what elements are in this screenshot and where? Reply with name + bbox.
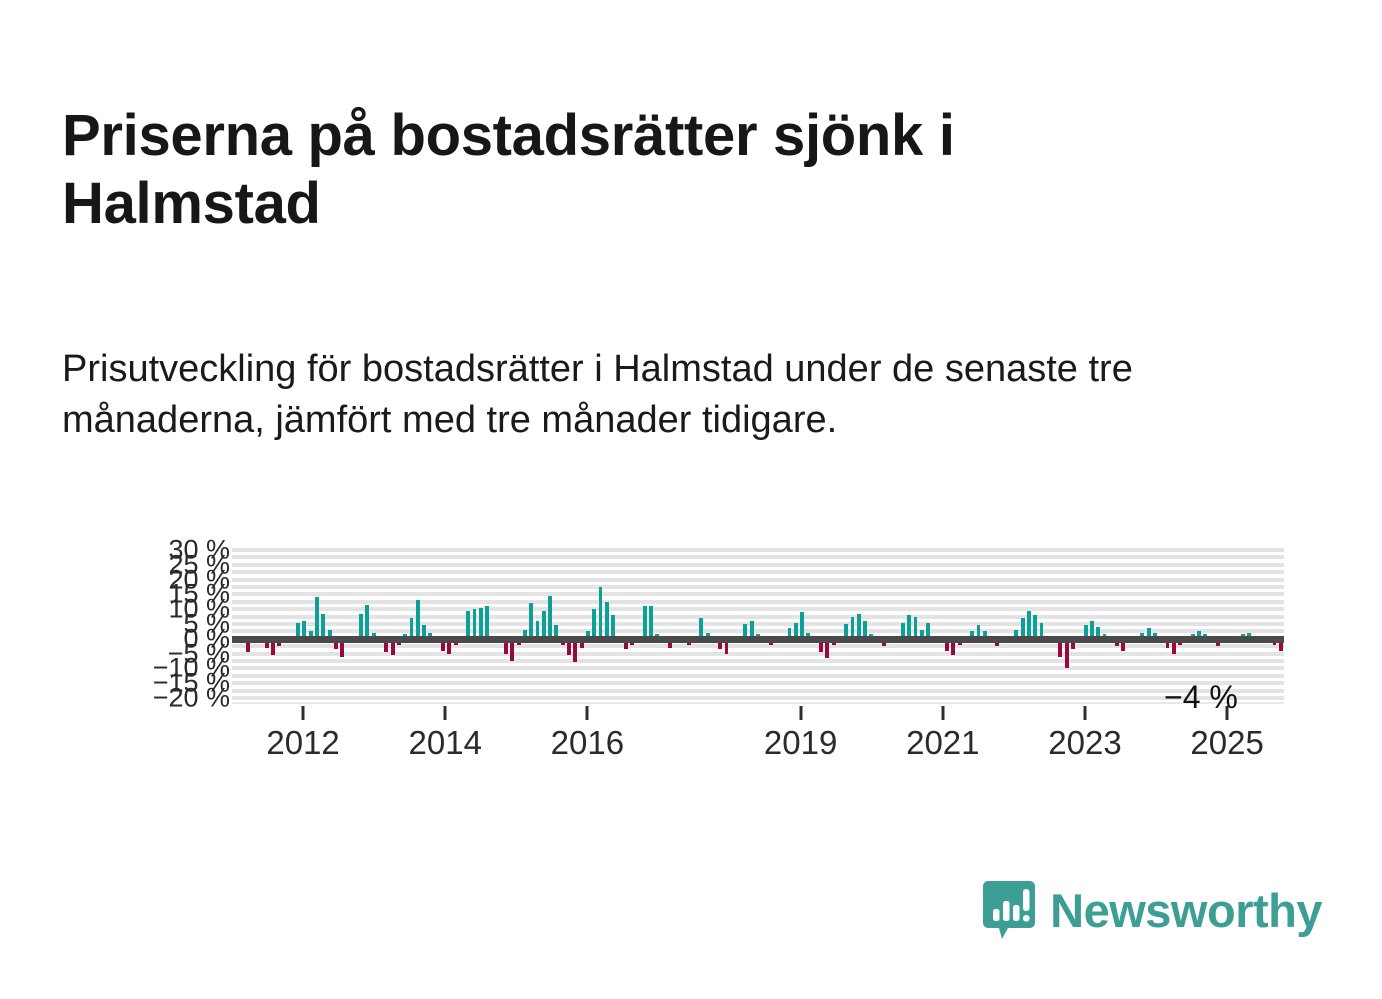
- newsworthy-logo[interactable]: Newsworthy: [982, 879, 1322, 941]
- page-title: Priserna på bostadsrätter sjönk i Halmst…: [62, 102, 1162, 239]
- y-axis-tick-label: −20 %: [153, 685, 230, 712]
- x-axis-tick-label: 2012: [266, 724, 339, 762]
- bar: [416, 600, 420, 638]
- bar: [649, 606, 653, 639]
- y-axis-labels: 30 %25 %20 %15 %10 %5 %0 %−5 %−10 %−15 %…: [62, 540, 230, 708]
- bar: [529, 603, 533, 639]
- bar: [315, 597, 319, 638]
- zero-line: [232, 636, 1284, 643]
- bar: [473, 609, 477, 639]
- bar: [800, 612, 804, 639]
- page-subtitle: Prisutveckling för bostadsrätter i Halms…: [62, 344, 1212, 445]
- x-axis-tick-label: 2023: [1048, 724, 1121, 762]
- x-axis-tick-label: 2014: [409, 724, 482, 762]
- x-axis-tick: [941, 706, 944, 720]
- bar: [643, 606, 647, 639]
- last-value-annotation: −4 %: [1164, 679, 1238, 716]
- bar: [599, 587, 603, 639]
- bar: [548, 596, 552, 639]
- bar: [479, 608, 483, 639]
- x-axis-tick: [799, 706, 802, 720]
- bar: [1027, 611, 1031, 639]
- x-axis-tick: [1083, 706, 1086, 720]
- x-axis-tick-label: 2019: [764, 724, 837, 762]
- price-development-bar-chart: 30 %25 %20 %15 %10 %5 %0 %−5 %−10 %−15 %…: [62, 540, 1302, 780]
- x-axis: 2012201420162019202120232025: [232, 702, 1284, 772]
- x-axis-tick-label: 2016: [551, 724, 624, 762]
- bar: [365, 605, 369, 639]
- bar-series: [232, 550, 1284, 698]
- newsworthy-bar-chart-bubble-icon: [982, 879, 1036, 941]
- x-axis-line: [232, 702, 1284, 704]
- x-axis-tick-label: 2021: [906, 724, 979, 762]
- x-axis-tick: [444, 706, 447, 720]
- bar: [466, 611, 470, 639]
- bar: [592, 609, 596, 639]
- bar: [485, 606, 489, 639]
- plot-area: [232, 550, 1284, 698]
- bar: [542, 611, 546, 639]
- x-axis-tick-label: 2025: [1190, 724, 1263, 762]
- x-axis-tick: [586, 706, 589, 720]
- logo-wordmark: Newsworthy: [1050, 887, 1322, 934]
- x-axis-tick: [302, 706, 305, 720]
- bar: [1065, 639, 1069, 669]
- bar: [605, 602, 609, 639]
- infographic-page: Priserna på bostadsrätter sjönk i Halmst…: [0, 0, 1382, 999]
